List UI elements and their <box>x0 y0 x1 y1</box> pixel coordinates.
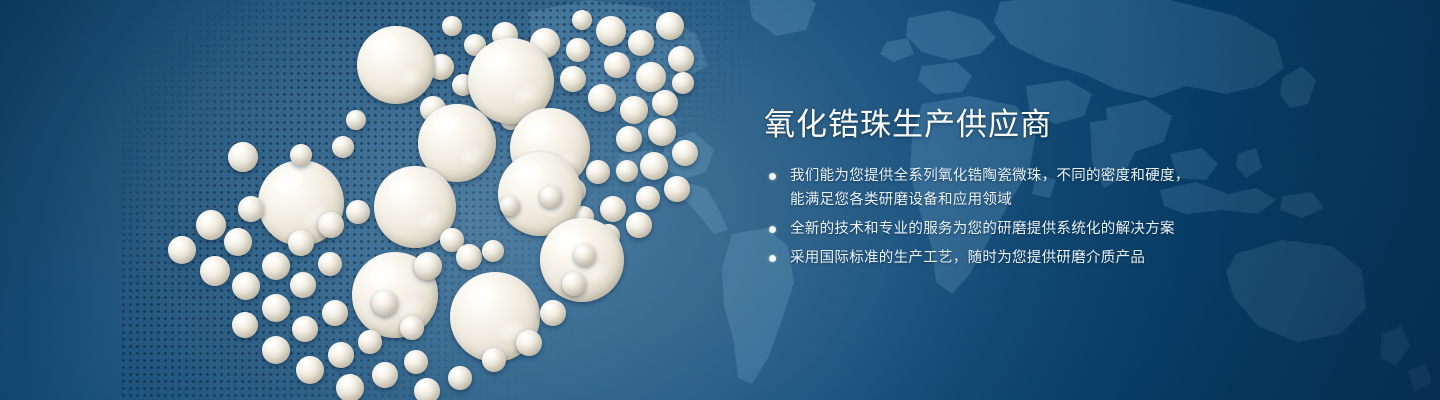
banner-content: 氧化锆珠生产供应商 我们能为您提供全系列氧化锆陶瓷微珠，不同的密度和硬度， 能满… <box>764 104 1324 270</box>
list-item-line-1: 全新的技术和专业的服务为您的研磨提供系统化的解决方案 <box>790 217 1324 241</box>
hero-banner: 氧化锆珠生产供应商 我们能为您提供全系列氧化锆陶瓷微珠，不同的密度和硬度， 能满… <box>0 0 1440 400</box>
list-item-line-1: 我们能为您提供全系列氧化锆陶瓷微珠，不同的密度和硬度， <box>790 164 1324 188</box>
list-item: 全新的技术和专业的服务为您的研磨提供系统化的解决方案 <box>764 217 1324 241</box>
bullet-dot-icon <box>769 173 776 180</box>
list-item-line-1: 采用国际标准的生产工艺，随时为您提供研磨介质产品 <box>790 246 1324 270</box>
list-item: 我们能为您提供全系列氧化锆陶瓷微珠，不同的密度和硬度， 能满足您各类研磨设备和应… <box>764 164 1324 212</box>
page-title: 氧化锆珠生产供应商 <box>764 104 1324 146</box>
bullet-dot-icon <box>769 255 776 262</box>
feature-list: 我们能为您提供全系列氧化锆陶瓷微珠，不同的密度和硬度， 能满足您各类研磨设备和应… <box>764 164 1324 270</box>
list-item: 采用国际标准的生产工艺，随时为您提供研磨介质产品 <box>764 246 1324 270</box>
list-item-line-2: 能满足您各类研磨设备和应用领域 <box>790 188 1324 212</box>
bullet-dot-icon <box>769 226 776 233</box>
